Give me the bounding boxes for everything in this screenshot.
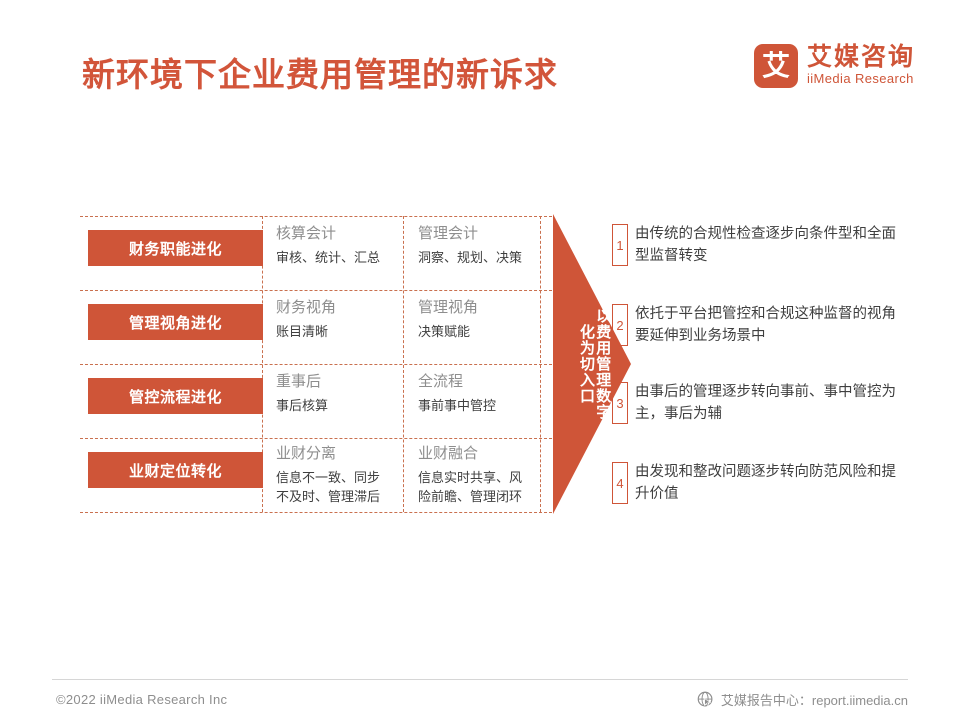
logo-text: 艾媒咨询 iiMedia Research — [807, 44, 915, 88]
point-number-badge: 2 — [612, 304, 628, 346]
row-separator — [80, 512, 552, 513]
row-separator — [80, 290, 552, 291]
matrix-cell-1-2: 管理会计 洞察、规划、决策 — [418, 224, 546, 268]
key-points-list: 1 由传统的合规性检查逐步向条件型和全面型监督转变 2 依托于平台把管控和合规这… — [612, 216, 912, 516]
list-item: 3 由事后的管理逐步转向事前、事中管控为主，事后为辅 — [612, 382, 903, 426]
cell-subtext: 账目清晰 — [276, 323, 404, 342]
point-number-badge: 3 — [612, 382, 628, 424]
logo-mark-icon: 艾 — [754, 44, 798, 88]
matrix-row-label-3[interactable]: 管控流程进化 — [88, 378, 263, 414]
logo-name-cn: 艾媒咨询 — [807, 44, 915, 70]
matrix-row-label-4[interactable]: 业财定位转化 — [88, 452, 263, 488]
point-number-badge: 1 — [612, 224, 628, 266]
cell-subtext: 信息不一致、同步 不及时、管理滞后 — [276, 469, 404, 507]
row-separator — [80, 438, 552, 439]
page-title: 新环境下企业费用管理的新诉求 — [82, 48, 558, 96]
matrix-cell-2-2: 管理视角 决策赋能 — [418, 298, 546, 342]
point-number-badge: 4 — [612, 462, 628, 504]
cell-heading: 财务视角 — [276, 298, 404, 318]
cell-heading: 管理视角 — [418, 298, 546, 318]
matrix-cell-4-2: 业财融合 信息实时共享、风 险前瞻、管理闭环 — [418, 444, 546, 507]
matrix-cell-1-1: 核算会计 审核、统计、汇总 — [276, 224, 404, 268]
cell-heading: 业财分离 — [276, 444, 404, 464]
cell-heading: 全流程 — [418, 372, 546, 392]
cell-heading: 业财融合 — [418, 444, 546, 464]
point-text: 由发现和整改问题逐步转向防范风险和提升价值 — [635, 462, 903, 506]
row-separator — [80, 216, 552, 217]
footer-report-center[interactable]: 艾媒报告中心：report.iimedia.cn — [697, 690, 908, 709]
evolution-matrix: 财务职能进化 核算会计 审核、统计、汇总 管理会计 洞察、规划、决策 管理视角进… — [80, 216, 552, 512]
cell-heading: 核算会计 — [276, 224, 404, 244]
cell-subtext: 洞察、规划、决策 — [418, 249, 546, 268]
matrix-row-label-2[interactable]: 管理视角进化 — [88, 304, 263, 340]
footer-copyright: ©2022 iiMedia Research Inc — [56, 692, 227, 707]
brand-logo: 艾 艾媒咨询 iiMedia Research — [754, 44, 915, 88]
matrix-row-label-1[interactable]: 财务职能进化 — [88, 230, 263, 266]
point-text: 由传统的合规性检查逐步向条件型和全面型监督转变 — [635, 224, 903, 268]
matrix-cell-3-1: 重事后 事后核算 — [276, 372, 404, 416]
cell-subtext: 信息实时共享、风 险前瞻、管理闭环 — [418, 469, 546, 507]
globe-icon — [697, 691, 714, 708]
logo-name-en: iiMedia Research — [807, 71, 915, 88]
list-item: 2 依托于平台把管控和合规这种监督的视角要延伸到业务场景中 — [612, 304, 903, 348]
footer-divider — [52, 679, 908, 680]
list-item: 4 由发现和整改问题逐步转向防范风险和提升价值 — [612, 462, 903, 506]
cell-subtext: 事后核算 — [276, 397, 404, 416]
list-item: 1 由传统的合规性检查逐步向条件型和全面型监督转变 — [612, 224, 903, 268]
point-text: 依托于平台把管控和合规这种监督的视角要延伸到业务场景中 — [635, 304, 903, 348]
cell-subtext: 审核、统计、汇总 — [276, 249, 404, 268]
matrix-cell-2-1: 财务视角 账目清晰 — [276, 298, 404, 342]
footer-report-center-label: 艾媒报告中心：report.iimedia.cn — [721, 690, 908, 709]
cell-heading: 重事后 — [276, 372, 404, 392]
slide-canvas: 新环境下企业费用管理的新诉求 艾 艾媒咨询 iiMedia Research 财… — [0, 0, 960, 720]
cell-subtext: 决策赋能 — [418, 323, 546, 342]
point-text: 由事后的管理逐步转向事前、事中管控为主，事后为辅 — [635, 382, 903, 426]
matrix-cell-4-1: 业财分离 信息不一致、同步 不及时、管理滞后 — [276, 444, 404, 507]
cell-subtext: 事前事中管控 — [418, 397, 546, 416]
cell-heading: 管理会计 — [418, 224, 546, 244]
row-separator — [80, 364, 552, 365]
matrix-cell-3-2: 全流程 事前事中管控 — [418, 372, 546, 416]
